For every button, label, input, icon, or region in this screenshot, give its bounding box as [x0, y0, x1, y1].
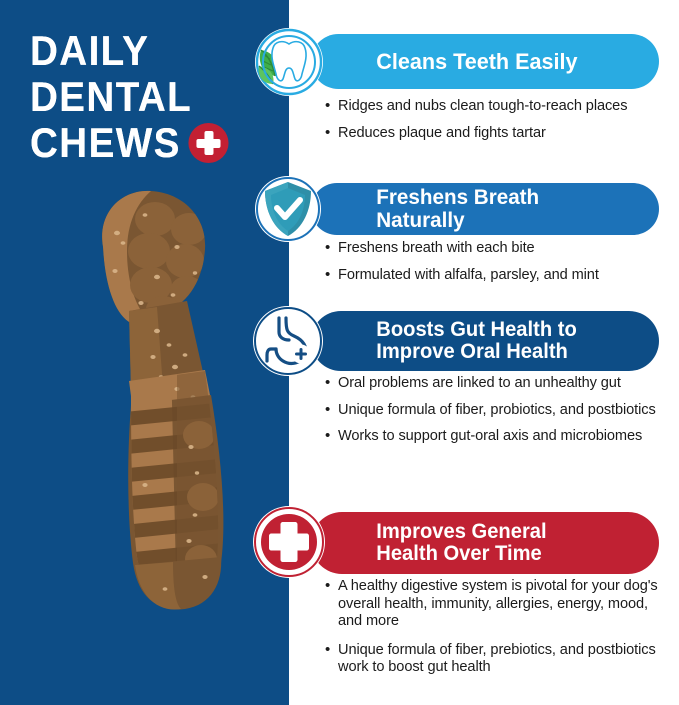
medical-cross-icon — [188, 123, 228, 163]
tooth-with-mint-leaf-icon — [255, 28, 323, 96]
title-line-1: DAILY — [30, 28, 260, 74]
title-line-3: CHEWS — [30, 120, 181, 166]
list-item: Formulated with alfalfa, parsley, and mi… — [325, 267, 673, 285]
feature-heading-4: Improves General Health Over Time — [311, 521, 568, 566]
list-item: Unique formula of fiber, prebiotics, and… — [325, 642, 673, 677]
list-item: Unique formula of fiber, probiotics, and… — [325, 402, 673, 420]
feature-bullets-1: Ridges and nubs clean tough-to-reach pla… — [325, 98, 673, 151]
left-brand-panel: DAILY DENTAL CHEWS — [0, 0, 289, 705]
page-title: DAILY DENTAL CHEWS — [30, 28, 280, 166]
list-item: Freshens breath with each bite — [325, 240, 673, 258]
infographic-poster: DAILY DENTAL CHEWS — [0, 0, 679, 705]
feature-heading-1: Cleans Teeth Easily — [311, 50, 599, 74]
stomach-plus-icon — [253, 306, 323, 376]
list-item: A healthy digestive system is pivotal fo… — [325, 578, 673, 631]
feature-banner-2: Freshens Breath Naturally — [311, 183, 659, 235]
chew-ridged-body — [115, 360, 245, 625]
shield-checkmark-icon — [255, 176, 321, 242]
list-item: Ridges and nubs clean tough-to-reach pla… — [325, 98, 673, 116]
feature-banner-4: Improves General Health Over Time — [311, 512, 659, 574]
dog-dental-chew-illustration — [45, 185, 255, 685]
list-item: Works to support gut-oral axis and micro… — [325, 428, 673, 446]
chew-head — [102, 191, 207, 325]
feature-bullets-3: Oral problems are linked to an unhealthy… — [325, 375, 673, 455]
features-column: Cleans Teeth Easily — [289, 0, 679, 705]
medical-cross-circle-icon — [253, 506, 325, 578]
feature-banner-1: Cleans Teeth Easily — [311, 34, 659, 89]
feature-banner-3: Boosts Gut Health to Improve Oral Health — [311, 311, 659, 371]
feature-bullets-2: Freshens breath with each bite Formulate… — [325, 240, 673, 293]
title-line-2: DENTAL — [30, 74, 260, 120]
list-item: Reduces plaque and fights tartar — [325, 125, 673, 143]
list-item: Oral problems are linked to an unhealthy… — [325, 375, 673, 393]
feature-bullets-4: A healthy digestive system is pivotal fo… — [325, 578, 673, 688]
feature-heading-2: Freshens Breath Naturally — [311, 186, 645, 232]
feature-heading-3: Boosts Gut Health to Improve Oral Health — [311, 319, 598, 364]
